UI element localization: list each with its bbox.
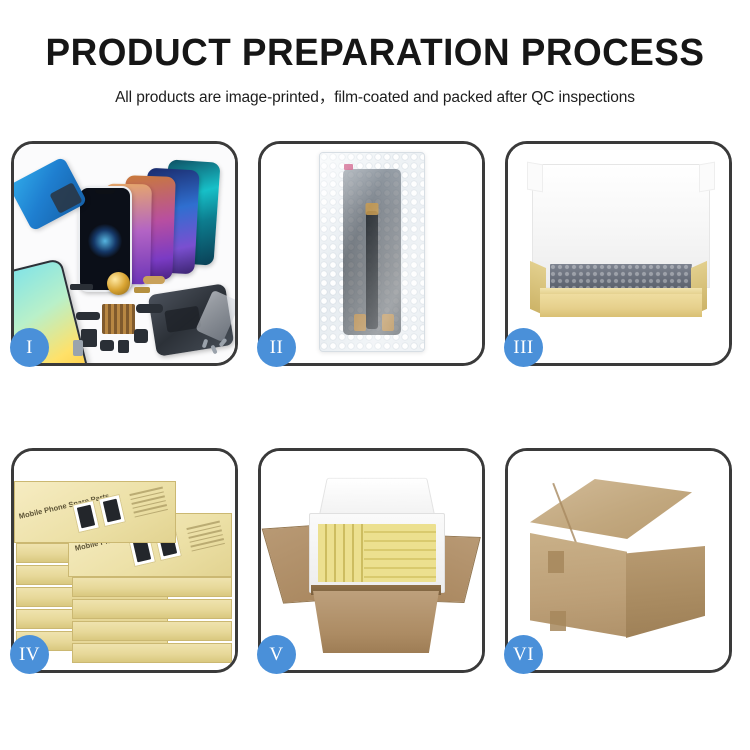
- box-text-lines-front: [186, 521, 225, 555]
- box-text-lines-rear: [129, 487, 168, 521]
- screws-group-icon: [203, 337, 229, 357]
- foam-liner-icon: [309, 513, 445, 593]
- open-box-with-foam-illustration: [508, 144, 729, 363]
- step-badge-2: II: [257, 328, 296, 367]
- process-step-panel-1: I: [11, 141, 238, 366]
- spare-part-f-icon: [136, 304, 163, 313]
- phone-screens-and-parts-illustration: [14, 144, 235, 363]
- process-step-panel-6: VI: [505, 448, 732, 673]
- flex-cable-icon: [366, 211, 378, 329]
- step-6-image: [508, 451, 729, 670]
- yellow-boxes-vertical-icon: [318, 524, 364, 582]
- stacked-box-r3: [72, 599, 232, 619]
- process-step-panel-3: III: [505, 141, 732, 366]
- carton-side-face-icon: [626, 546, 705, 638]
- gold-connector-top-icon: [365, 203, 378, 215]
- spare-part-h-icon: [73, 340, 83, 356]
- stacked-box-r5: [72, 643, 232, 663]
- spare-part-c-icon: [81, 329, 97, 347]
- box-front-panel-icon: [540, 294, 702, 317]
- pink-pull-tab-icon: [344, 164, 353, 170]
- gold-connector-right-icon: [382, 314, 394, 331]
- gold-coil-icon: [107, 272, 130, 295]
- stacked-box-r4: [72, 621, 232, 641]
- carton-front-face-icon: [530, 533, 627, 637]
- step-badge-5: V: [257, 635, 296, 674]
- step-1-image: [14, 144, 235, 363]
- step-badge-1: I: [10, 328, 49, 367]
- carton-tape-lower-icon: [550, 611, 566, 631]
- step-4-image: Mobile Phone Spare Parts Mobile Phone Sp…: [14, 451, 235, 670]
- carton-packing-illustration: [261, 451, 482, 670]
- page-title: PRODUCT PREPARATION PROCESS: [11, 34, 739, 72]
- step-badge-3: III: [504, 328, 543, 367]
- carton-body-icon: [313, 591, 439, 653]
- sealed-carton-illustration: [508, 451, 729, 670]
- carton-tape-upper-icon: [548, 551, 564, 573]
- step-3-image: [508, 144, 729, 363]
- spare-part-g-icon: [134, 329, 148, 343]
- spare-part-d-icon: [100, 340, 114, 351]
- chip-grid-icon: [102, 304, 135, 334]
- spare-part-e-icon: [118, 340, 129, 353]
- box-window-rear-2: [98, 494, 126, 527]
- page-header: PRODUCT PREPARATION PROCESS All products…: [0, 0, 750, 107]
- printed-box-rear-top: Mobile Phone Spare Parts: [15, 482, 175, 542]
- bubble-wrap-bag-icon: [319, 152, 425, 352]
- process-step-panel-2: II: [258, 141, 485, 366]
- printed-box-rear: Mobile Phone Spare Parts: [14, 481, 176, 543]
- step-5-image: [261, 451, 482, 670]
- gold-connector-left-icon: [354, 314, 366, 331]
- gold-flex-connector-icon: [143, 276, 165, 284]
- box-window-rear-1: [72, 500, 100, 533]
- phone-notch-icon: [95, 190, 115, 194]
- step-2-image: [261, 144, 482, 363]
- bubble-wrapped-screen-illustration: [261, 144, 482, 363]
- step-badge-4: IV: [10, 635, 49, 674]
- process-step-grid: I II: [11, 141, 739, 673]
- blue-lcd-panel-icon: [14, 156, 88, 231]
- spare-part-b-icon: [76, 312, 100, 320]
- spare-part-a-icon: [70, 284, 93, 290]
- process-step-panel-5: V: [258, 448, 485, 673]
- foam-lid-icon: [319, 478, 436, 517]
- gold-contact-strip-icon: [134, 287, 150, 293]
- stacked-box-r2: [72, 577, 232, 597]
- stacked-retail-boxes-illustration: Mobile Phone Spare Parts Mobile Phone Sp…: [14, 451, 235, 670]
- page-subtitle: All products are image-printed，film-coat…: [0, 85, 750, 107]
- step-badge-6: VI: [504, 635, 543, 674]
- process-step-panel-4: Mobile Phone Spare Parts Mobile Phone Sp…: [11, 448, 238, 673]
